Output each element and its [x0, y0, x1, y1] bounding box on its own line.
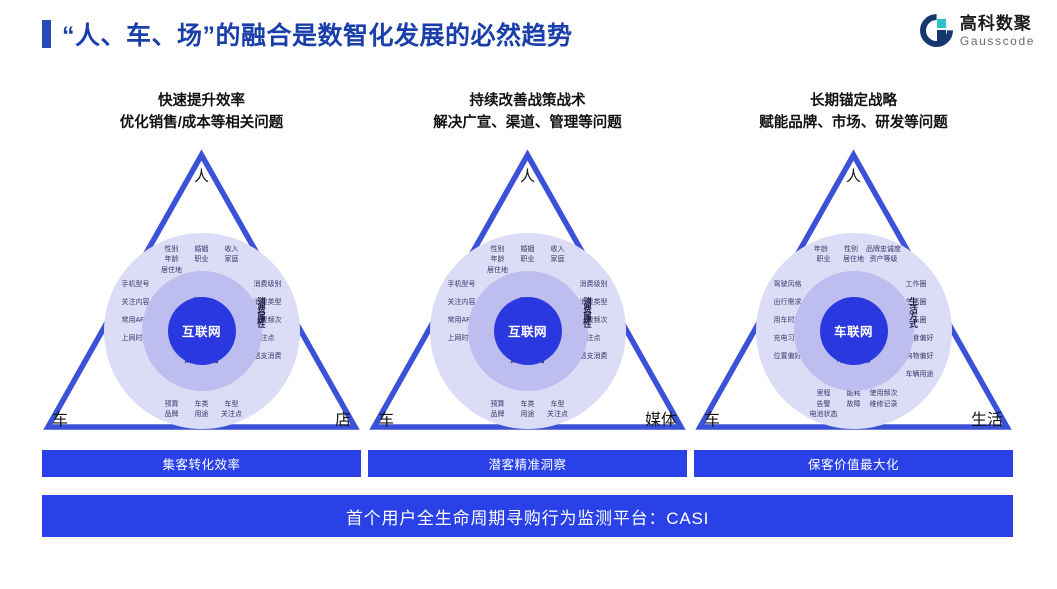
outer-top-cell: 居住地	[839, 255, 869, 266]
logo-name-en: Gausscode	[960, 35, 1035, 47]
outer-top-cell: 职业	[187, 255, 217, 266]
column-1-core-label: 互联网	[508, 321, 547, 340]
outer-right-item: 车辆用途	[906, 369, 974, 379]
logo-text-block: 高科数聚 Gausscode	[960, 15, 1035, 47]
column-2-corner-right-label: 生活	[971, 406, 1003, 430]
outer-right-item: 透支消费	[580, 351, 648, 361]
outer-top-cell: 收入	[217, 245, 247, 256]
outer-left-item: 上网时间	[408, 333, 476, 343]
outer-bottom-cell: 使用频次	[869, 389, 899, 400]
outer-bottom-cell: 车类	[513, 400, 543, 411]
column-1-heading-line2: 解决广宣、渠道、管理等问题	[368, 112, 687, 134]
outer-top-row: 年龄性别品牌忠诚度	[772, 245, 936, 256]
outer-bottom-cell: 能耗	[839, 389, 869, 400]
outer-left-item: 驾驶风格	[734, 279, 802, 289]
outer-bottom-row: 品牌用途关注点	[120, 410, 284, 421]
column-1-triangle-stage: 人车媒体性别婚姻收入年龄职业家庭居住地预算车类车型品牌用途关注点手机型号关注内容…	[368, 145, 687, 432]
gausscode-logo-icon	[920, 14, 953, 47]
outer-right-item: 工作圈	[906, 279, 974, 289]
column-2: 长期锚定战略赋能品牌、市场、研发等问题人车生活年龄性别品牌忠诚度职业居住地资产等…	[694, 90, 1013, 432]
outer-left-item: 上网时间	[82, 333, 150, 343]
outer-bottom-cell: 车型	[217, 400, 247, 411]
outer-right-item: 消费级别	[580, 279, 648, 289]
outer-top-cell: 家庭	[217, 255, 247, 266]
column-0: 快速提升效率优化销售/成本等相关问题人车店性别婚姻收入年龄职业家庭居住地预算车类…	[42, 90, 361, 432]
outer-top-cell: 收入	[543, 245, 573, 256]
column-1-concentric-circles: 性别婚姻收入年龄职业家庭居住地预算车类车型品牌用途关注点手机型号关注内容常用AP…	[430, 233, 626, 429]
outer-right-item: 关注点	[254, 333, 322, 343]
outer-top-cell: 年龄	[483, 255, 513, 266]
column-0-heading-line2: 优化销售/成本等相关问题	[42, 112, 361, 134]
outer-bottom-cell: 关注点	[543, 410, 573, 421]
column-2-outer-right-labels: 工作圈生活圈娱乐圈饮食偏好购物偏好车辆用途	[906, 279, 974, 387]
outer-bottom-cell: 告警	[809, 400, 839, 411]
outer-right-item: 关注点	[580, 333, 648, 343]
outer-bottom-row: 品牌用途关注点	[446, 410, 610, 421]
column-0-outer-bottom-labels: 预算车类车型品牌用途关注点	[120, 400, 284, 421]
outer-right-item: 购物偏好	[906, 351, 974, 361]
column-1-outer-bottom-labels: 预算车类车型品牌用途关注点	[446, 400, 610, 421]
footer-banner: 首个用户全生命周期寻购行为监测平台：CASI	[42, 495, 1013, 537]
column-0-core-circle: 互联网	[168, 297, 236, 365]
column-2-triangle-stage: 人车生活年龄性别品牌忠诚度职业居住地资产等级里程能耗使用频次告警故障维修记录电池…	[694, 145, 1013, 432]
outer-bottom-cell: 预算	[483, 400, 513, 411]
slide-header: “人、车、场”的融合是数智化发展的必然趋势 高科数聚 Gausscode	[0, 0, 1057, 68]
logo-teal-square	[937, 19, 946, 28]
outer-right-item: 饮食偏好	[906, 333, 974, 343]
outer-right-item: 透支消费	[254, 351, 322, 361]
outer-top-cell: 年龄	[806, 245, 836, 256]
outer-bottom-cell: 品牌	[157, 410, 187, 421]
column-0-corner-right-label: 店	[335, 406, 351, 430]
column-0-heading: 快速提升效率优化销售/成本等相关问题	[42, 90, 361, 135]
column-2-heading: 长期锚定战略赋能品牌、市场、研发等问题	[694, 90, 1013, 135]
brand-logo: 高科数聚 Gausscode	[920, 14, 1035, 47]
column-0-apex-label: 人	[42, 165, 361, 186]
column-0-core-label: 互联网	[182, 321, 221, 340]
column-1-heading: 持续改善战策战术解决广宣、渠道、管理等问题	[368, 90, 687, 135]
column-1-banner: 潜客精准洞察	[368, 450, 687, 477]
outer-bottom-cell: 车类	[187, 400, 217, 411]
logo-navy-square	[937, 30, 946, 41]
outer-top-cell: 品牌忠诚度	[866, 245, 901, 256]
outer-top-cell: 性别	[483, 245, 513, 256]
logo-name-cn: 高科数聚	[960, 15, 1035, 32]
outer-bottom-cell: 故障	[839, 400, 869, 411]
outer-bottom-cell: 用途	[187, 410, 217, 421]
column-1: 持续改善战策战术解决广宣、渠道、管理等问题人车媒体性别婚姻收入年龄职业家庭居住地…	[368, 90, 687, 432]
outer-bottom-row: 预算车类车型	[120, 400, 284, 411]
column-2-outer-bottom-labels: 里程能耗使用频次告警故障维修记录电池状态	[772, 389, 936, 421]
column-2-core-circle: 车联网	[820, 297, 888, 365]
column-1-heading-line1: 持续改善战策战术	[368, 90, 687, 112]
column-1-apex-label: 人	[368, 165, 687, 186]
column-0-heading-line1: 快速提升效率	[42, 90, 361, 112]
outer-bottom-cell: 关注点	[217, 410, 247, 421]
column-2-outer-top-labels: 年龄性别品牌忠诚度职业居住地资产等级	[772, 245, 936, 266]
outer-left-item: 手机型号	[408, 279, 476, 289]
outer-bottom-cell: 用途	[513, 410, 543, 421]
outer-bottom-cell: 车型	[543, 400, 573, 411]
outer-bottom-cell: 维修记录	[869, 400, 899, 411]
outer-top-row: 年龄职业家庭	[446, 255, 610, 266]
column-0-triangle-stage: 人车店性别婚姻收入年龄职业家庭居住地预算车类车型品牌用途关注点手机型号关注内容常…	[42, 145, 361, 432]
outer-bottom-row: 电池状态	[772, 410, 936, 421]
outer-top-row: 年龄职业家庭	[120, 255, 284, 266]
column-2-heading-line2: 赋能品牌、市场、研发等问题	[694, 112, 1013, 134]
outer-left-item: 充电习惯	[734, 333, 802, 343]
outer-bottom-row: 里程能耗使用频次	[772, 389, 936, 400]
column-2-core-label: 车联网	[834, 321, 873, 340]
column-1-corner-left-label: 车	[378, 406, 394, 430]
outer-top-cell: 性别	[836, 245, 866, 256]
outer-top-cell: 年龄	[157, 255, 187, 266]
column-2-heading-line1: 长期锚定战略	[694, 90, 1013, 112]
outer-bottom-row: 告警故障维修记录	[772, 400, 936, 411]
outer-top-cell: 职业	[809, 255, 839, 266]
outer-right-item: 消费级别	[254, 279, 322, 289]
outer-bottom-cell: 品牌	[483, 410, 513, 421]
outer-top-cell: 职业	[513, 255, 543, 266]
outer-top-cell: 婚姻	[187, 245, 217, 256]
page-title: “人、车、场”的融合是数智化发展的必然趋势	[62, 16, 573, 52]
title-accent-bar	[42, 20, 51, 48]
column-2-corner-left-label: 车	[704, 406, 720, 430]
outer-top-cell: 性别	[157, 245, 187, 256]
outer-left-item: 位置偏好	[734, 351, 802, 361]
slide-root: “人、车、场”的融合是数智化发展的必然趋势 高科数聚 Gausscode 快速提…	[0, 0, 1057, 589]
outer-top-cell: 家庭	[543, 255, 573, 266]
outer-top-row: 职业居住地资产等级	[772, 255, 936, 266]
outer-bottom-cell: 预算	[157, 400, 187, 411]
column-1-corner-right-label: 媒体	[645, 406, 677, 430]
outer-top-cell: 婚姻	[513, 245, 543, 256]
outer-bottom-cell: 电池状态	[809, 410, 839, 421]
column-0-banner: 集客转化效率	[42, 450, 361, 477]
column-2-apex-label: 人	[694, 165, 1013, 186]
column-1-core-circle: 互联网	[494, 297, 562, 365]
outer-left-item: 手机型号	[82, 279, 150, 289]
column-0-corner-left-label: 车	[52, 406, 68, 430]
outer-top-row: 性别婚姻收入	[120, 245, 284, 256]
outer-top-row: 性别婚姻收入	[446, 245, 610, 256]
column-2-banner: 保客价值最大化	[694, 450, 1013, 477]
outer-bottom-cell: 里程	[809, 389, 839, 400]
column-0-concentric-circles: 性别婚姻收入年龄职业家庭居住地预算车类车型品牌用途关注点手机型号关注内容常用AP…	[104, 233, 300, 429]
outer-top-cell: 资产等级	[869, 255, 899, 266]
column-2-concentric-circles: 年龄性别品牌忠诚度职业居住地资产等级里程能耗使用频次告警故障维修记录电池状态驾驶…	[756, 233, 952, 429]
outer-bottom-row: 预算车类车型	[446, 400, 610, 411]
